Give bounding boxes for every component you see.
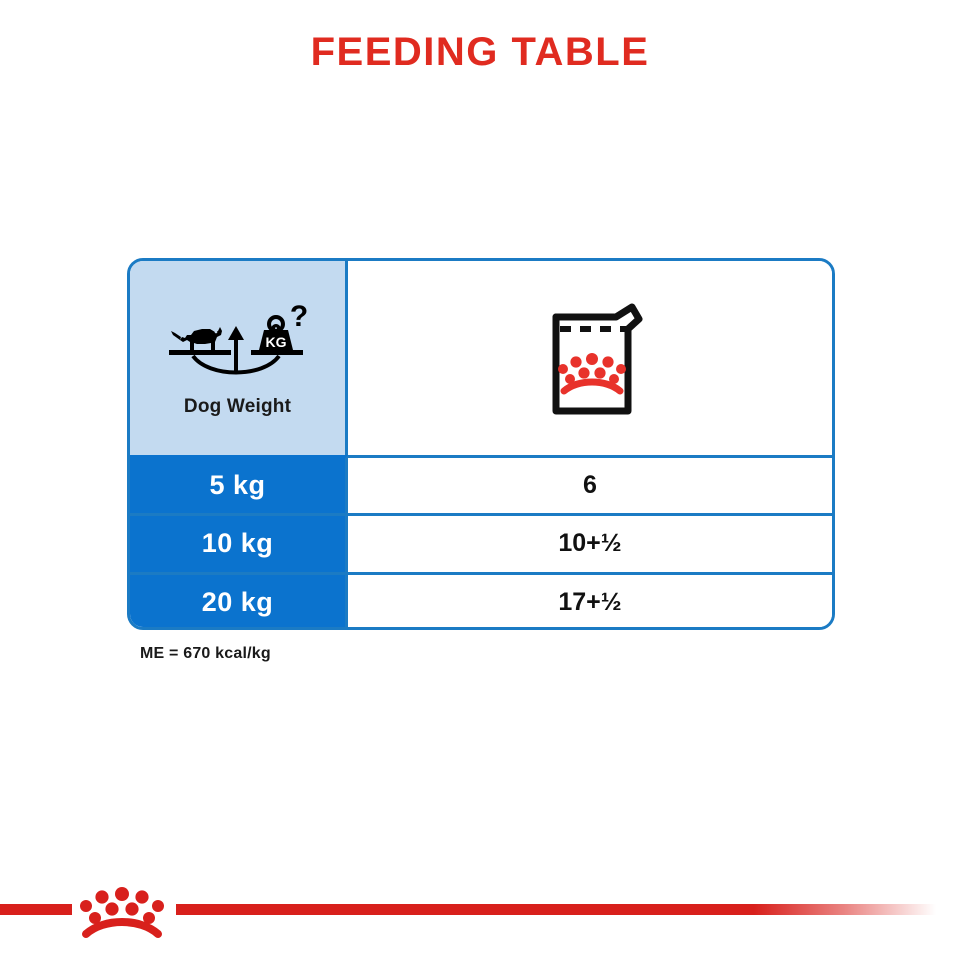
header-label-dog-weight: Dog Weight (184, 396, 291, 418)
table-body: 5 kg 6 10 kg 10+½ 20 kg 17+½ (130, 455, 832, 630)
table-row: 10 kg 10+½ (130, 513, 832, 571)
brand-rule-right (176, 904, 936, 915)
cell-amount: 17+½ (348, 575, 832, 630)
cell-dog-weight: 20 kg (130, 575, 348, 630)
table-row: 20 kg 17+½ (130, 572, 832, 630)
metabolizable-energy-note: ME = 670 kcal/kg (140, 645, 271, 663)
cell-amount: 6 (348, 458, 832, 513)
table-header-row: ? KG (130, 261, 832, 455)
feeding-table: ? KG (127, 258, 835, 630)
brand-footer (0, 898, 960, 960)
cell-amount: 10+½ (348, 516, 832, 571)
header-cell-product (348, 261, 832, 455)
svg-text:KG: KG (265, 334, 286, 350)
cell-dog-weight: 5 kg (130, 455, 348, 513)
balance-scale-dog-kg-icon: ? KG (163, 304, 313, 386)
royal-canin-crown-logo (66, 876, 178, 946)
table-row: 5 kg 6 (130, 455, 832, 513)
svg-text:?: ? (289, 304, 307, 333)
brand-rule-left (0, 904, 72, 915)
page-title: FEEDING TABLE (0, 30, 960, 75)
royal-canin-pouch-icon (534, 299, 646, 417)
header-cell-dog-weight: ? KG (130, 261, 348, 455)
cell-dog-weight: 10 kg (130, 516, 348, 571)
